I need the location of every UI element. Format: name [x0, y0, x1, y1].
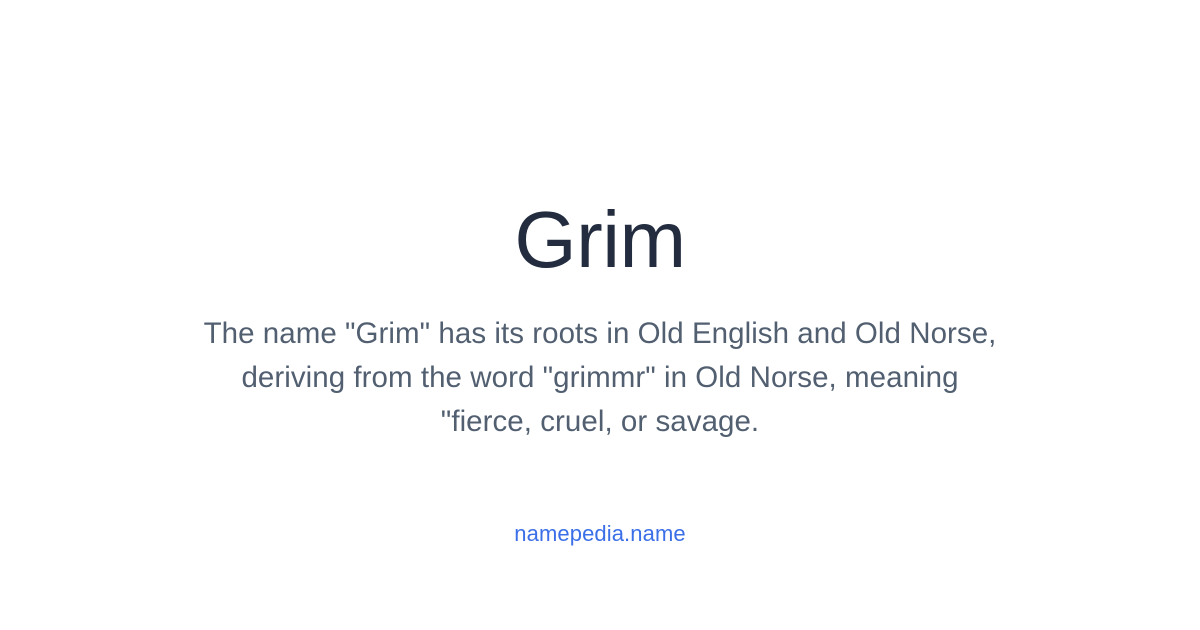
description-line-3: "fierce, cruel, or savage.: [135, 400, 1065, 444]
name-description: The name "Grim" has its roots in Old Eng…: [135, 312, 1065, 444]
description-line-2: deriving from the word "grimmr" in Old N…: [135, 356, 1065, 400]
page-title: Grim: [0, 200, 1200, 280]
description-line-1: The name "Grim" has its roots in Old Eng…: [135, 312, 1065, 356]
name-info-card: Grim The name "Grim" has its roots in Ol…: [0, 0, 1200, 630]
site-link[interactable]: namepedia.name: [0, 521, 1200, 547]
